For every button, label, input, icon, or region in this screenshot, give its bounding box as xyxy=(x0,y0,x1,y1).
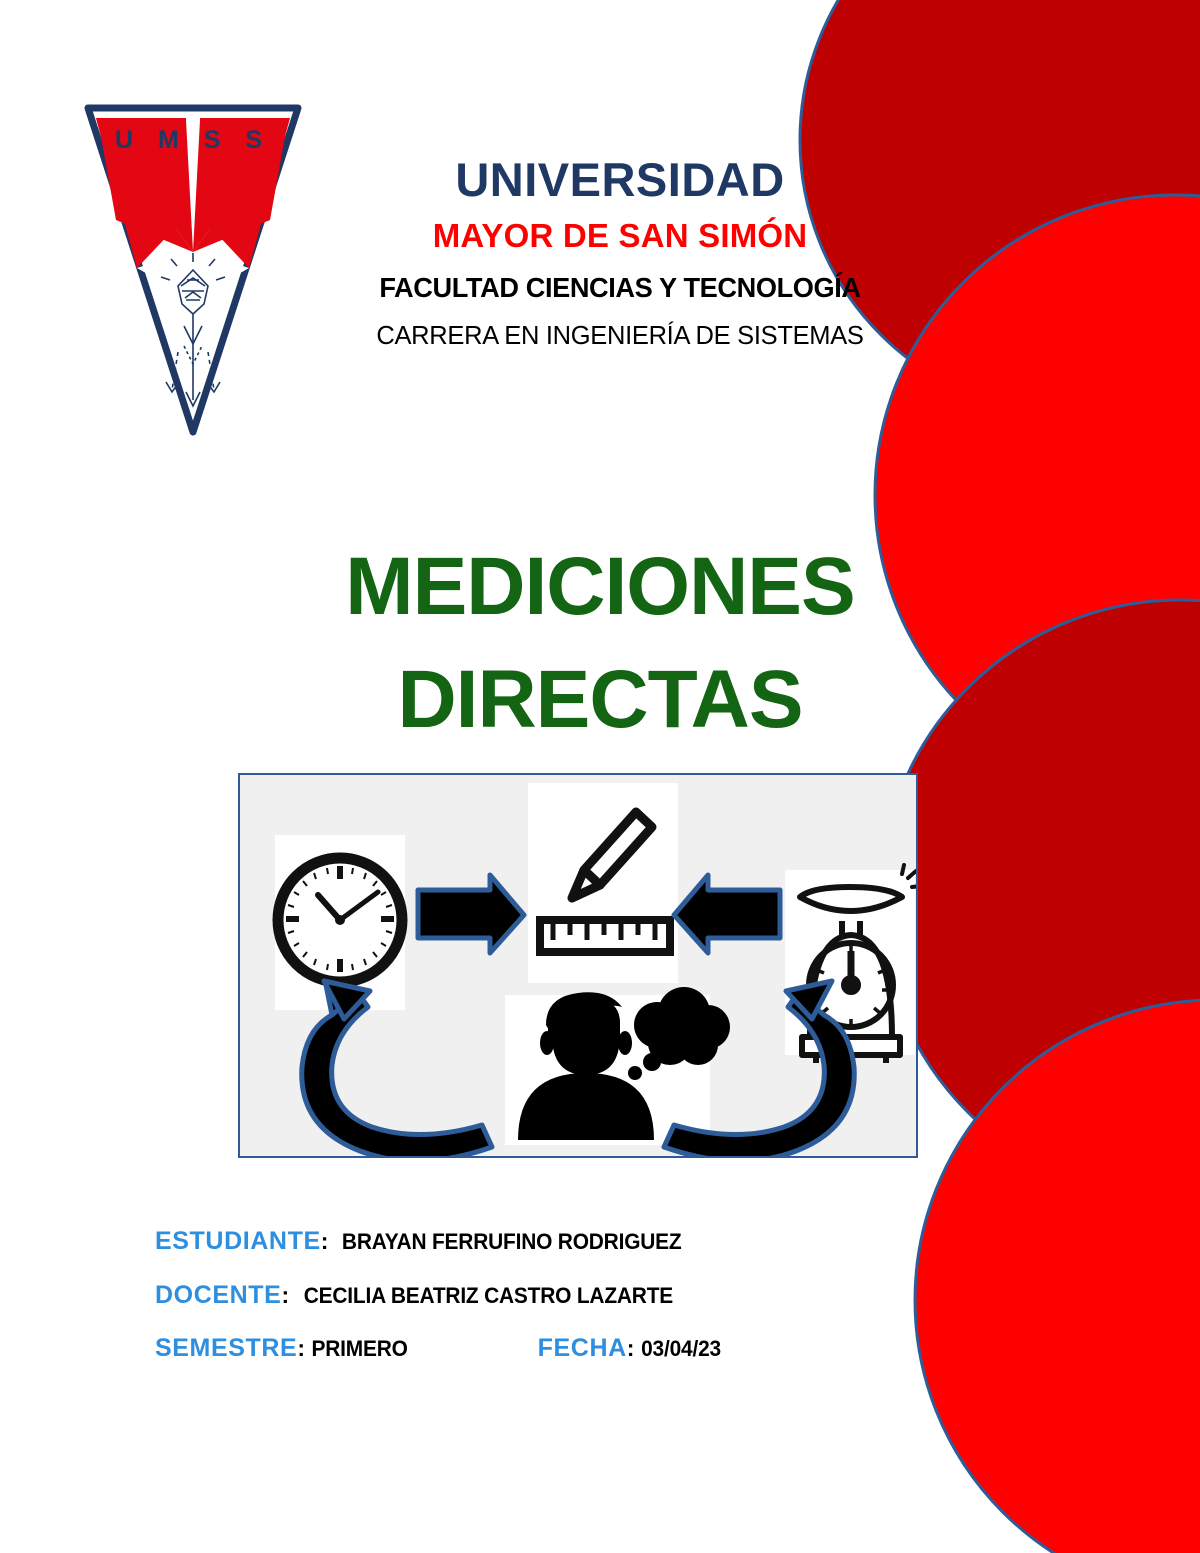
semestre-separator: : xyxy=(297,1335,305,1361)
info-row-semestre-fecha: SEMESTRE: PRIMERO FECHA: 03/04/23 xyxy=(155,1335,1035,1363)
info-row-estudiante: ESTUDIANTE: BRAYAN FERRUFINO RODRIGUEZ xyxy=(155,1228,1035,1256)
faculty-name: FACULTAD CIENCIAS Y TECNOLOGÍA xyxy=(306,273,935,302)
cover-info-block: ESTUDIANTE: BRAYAN FERRUFINO RODRIGUEZ D… xyxy=(155,1228,1035,1389)
university-name-line1: UNIVERSIDAD xyxy=(296,155,944,205)
arrow-left-icon xyxy=(674,875,780,953)
document-title-line1: MEDICIONES xyxy=(345,541,854,632)
estudiante-value: BRAYAN FERRUFINO RODRIGUEZ xyxy=(342,1230,682,1254)
arrow-right-icon xyxy=(418,875,524,953)
document-title-line2: DIRECTAS xyxy=(300,643,900,756)
kitchen-scale-icon xyxy=(785,865,916,1063)
university-name-line2: MAYOR DE SAN SIMÓN xyxy=(296,219,944,254)
decor-circle-3 xyxy=(880,600,1200,1200)
direct-measurements-diagram xyxy=(238,773,918,1158)
semestre-value: PRIMERO xyxy=(312,1337,408,1361)
career-name: CARRERA EN INGENIERÍA DE SISTEMAS xyxy=(302,322,937,349)
fecha-separator: : xyxy=(627,1335,635,1361)
pencil-ruler-icon xyxy=(528,783,678,983)
docente-separator: : xyxy=(281,1282,289,1308)
header-block: UNIVERSIDAD MAYOR DE SAN SIMÓN FACULTAD … xyxy=(296,155,944,349)
info-row-docente: DOCENTE: CECILIA BEATRIZ CASTRO LAZARTE xyxy=(155,1282,1035,1310)
estudiante-separator: : xyxy=(321,1228,329,1254)
umss-logo: U M S S xyxy=(82,100,304,440)
fecha-value: 03/04/23 xyxy=(641,1337,721,1361)
fecha-label: FECHA xyxy=(538,1334,627,1362)
logo-initials: U M S S xyxy=(115,126,271,154)
docente-value: CECILIA BEATRIZ CASTRO LAZARTE xyxy=(303,1284,672,1308)
semestre-label: SEMESTRE xyxy=(155,1334,297,1362)
person-thinking-icon xyxy=(505,987,730,1145)
document-title: MEDICIONES DIRECTAS xyxy=(300,530,900,756)
docente-label: DOCENTE xyxy=(155,1281,281,1309)
estudiante-label: ESTUDIANTE xyxy=(155,1227,321,1255)
